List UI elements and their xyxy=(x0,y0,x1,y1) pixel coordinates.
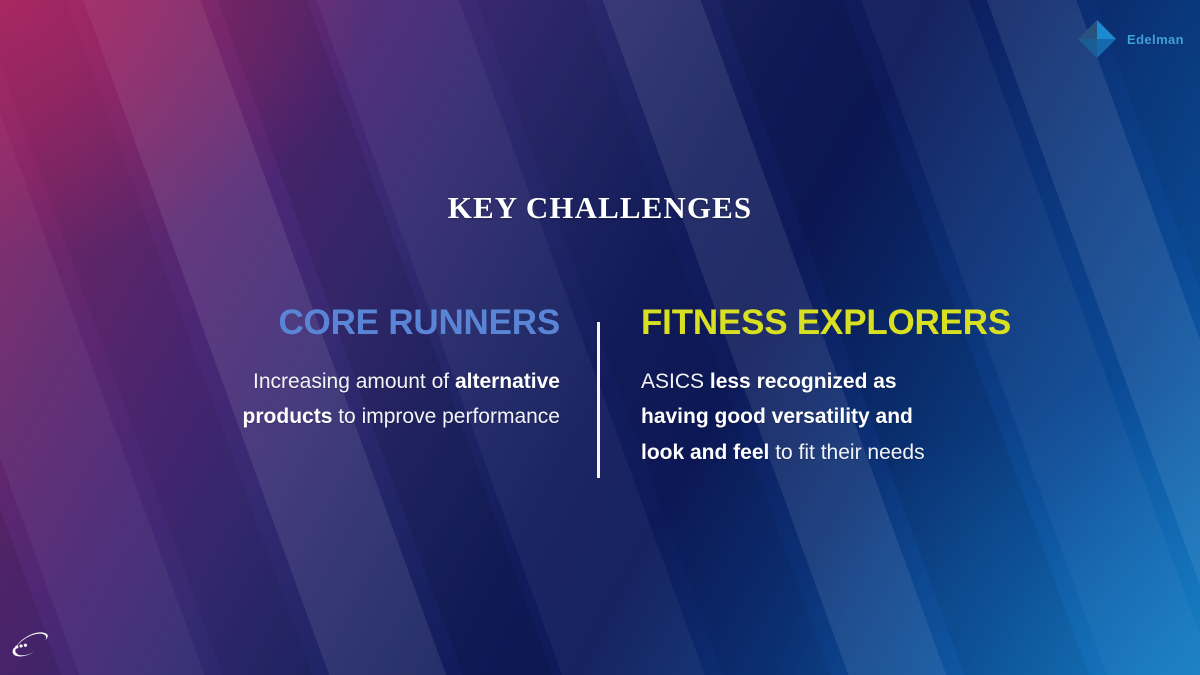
edelman-logo: Edelman xyxy=(1074,16,1184,62)
body-text-suffix: to fit their needs xyxy=(769,441,924,464)
column-body-core-runners: Increasing amount of alternative product… xyxy=(240,364,560,435)
asics-spiral-icon xyxy=(8,627,52,657)
column-heading-core-runners: CORE RUNNERS xyxy=(240,305,560,342)
body-text-prefix: Increasing amount of xyxy=(253,370,455,393)
background-glow-warm xyxy=(0,0,384,270)
slide-root: Edelman KEY CHALLENGES CORE RUNNERS Incr… xyxy=(0,0,1200,675)
body-text-prefix: ASICS xyxy=(641,370,710,393)
column-core-runners: CORE RUNNERS Increasing amount of altern… xyxy=(240,305,600,435)
edelman-diamond-icon xyxy=(1074,16,1120,62)
page-title: KEY CHALLENGES xyxy=(0,190,1200,226)
column-body-fitness-explorers: ASICS less recognized as having good ver… xyxy=(641,364,960,471)
vertical-divider xyxy=(597,322,600,478)
body-text-suffix: to improve performance xyxy=(332,405,560,428)
column-heading-fitness-explorers: FITNESS EXPLORERS xyxy=(641,305,960,342)
edelman-wordmark: Edelman xyxy=(1127,33,1184,46)
columns-container: CORE RUNNERS Increasing amount of altern… xyxy=(0,305,1200,471)
column-fitness-explorers: FITNESS EXPLORERS ASICS less recognized … xyxy=(600,305,960,471)
